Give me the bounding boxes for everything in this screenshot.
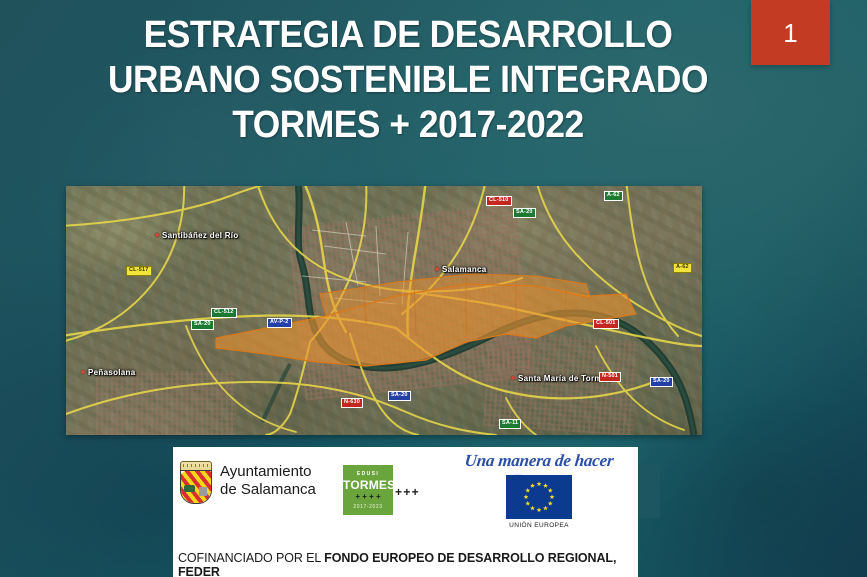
bull-charge-icon	[184, 485, 195, 492]
title-line-2: URBANO SOSTENIBLE INTEGRADO	[64, 58, 752, 103]
presentation-slide: 1 ESTRATEGIA DE DESARROLLO URBANO SOSTEN…	[0, 0, 867, 577]
eu-stars	[506, 475, 572, 519]
map-shield-avp2: AV-P-2	[267, 318, 292, 328]
map-label-santibanez: Santibáñez del Río	[162, 231, 239, 240]
cofinancing-prefix: COFINANCIADO POR EL	[178, 551, 324, 565]
map-shield-cl501: CL-501	[593, 319, 619, 329]
edusi-tormes-logo: EDUSI TORMES + + + + 2017-2023	[343, 465, 393, 515]
map-shield-sa20-s: SA-20	[388, 391, 411, 401]
map-shield-cl510: CL-510	[486, 196, 512, 206]
salamanca-coat-of-arms-icon	[178, 461, 212, 503]
edusi-years: 2017-2023	[343, 504, 393, 510]
tower-charge-icon	[199, 487, 207, 496]
cofinancing-statement: COFINANCIADO POR EL FONDO EUROPEO DE DES…	[178, 551, 633, 577]
map-shield-sa11: SA-11	[499, 419, 521, 429]
map-shield-n630: N-630	[341, 398, 363, 408]
title-line-3: TORMES + 2017-2022	[64, 103, 752, 148]
map-label-penasolana: Peñasolana	[88, 368, 135, 377]
map-label-santa-maria-de-tormes: Santa María de Tormes	[518, 374, 611, 383]
shield-icon	[180, 470, 212, 504]
map-label-salamanca: Salamanca	[442, 265, 487, 274]
edusi-symbols: + + + +	[343, 492, 393, 501]
map-shield-sa20-n: SA-20	[513, 208, 536, 218]
accent-block	[638, 464, 660, 518]
logo-row: Ayuntamiento de Salamanca EDUSI TORMES +…	[173, 447, 638, 535]
map-shield-a62-e: A-62	[673, 263, 692, 273]
eu-flag-label: UNIÓN EUROPEA	[503, 522, 575, 529]
map-edusi-highlight-zone	[66, 186, 702, 435]
slide-number: 1	[783, 20, 797, 46]
ayuntamiento-line-1: Ayuntamiento	[220, 463, 316, 481]
map-shield-cl517: CL-517	[126, 266, 152, 276]
ayuntamiento-logo-text: Ayuntamiento de Salamanca	[220, 463, 316, 500]
map-shield-a62-n: A-62	[604, 191, 623, 201]
edusi-label: EDUSI	[343, 471, 393, 477]
slide-number-badge: 1	[751, 0, 830, 65]
map-shield-sa20-w: SA-20	[191, 320, 214, 330]
satellite-map-image: Santibáñez del Río Salamanca Peñasolana …	[66, 186, 702, 435]
eu-flag-block: UNIÓN EUROPEA	[503, 475, 575, 529]
tormes-label: TORMES	[343, 478, 393, 492]
map-shield-sa20-se: SA-20	[650, 377, 673, 387]
footer-panel: Ayuntamiento de Salamanca EDUSI TORMES +…	[173, 447, 638, 577]
eu-flag-icon	[506, 475, 572, 519]
ayuntamiento-line-2: de Salamanca	[220, 481, 316, 499]
edusi-plus-symbols: + + +	[395, 485, 418, 499]
map-shield-n501: N-501	[599, 372, 621, 382]
title-line-1: ESTRATEGIA DE DESARROLLO	[64, 13, 752, 58]
map-shield-cl512: CL-512	[211, 308, 237, 318]
page-title: ESTRATEGIA DE DESARROLLO URBANO SOSTENIB…	[64, 13, 752, 147]
